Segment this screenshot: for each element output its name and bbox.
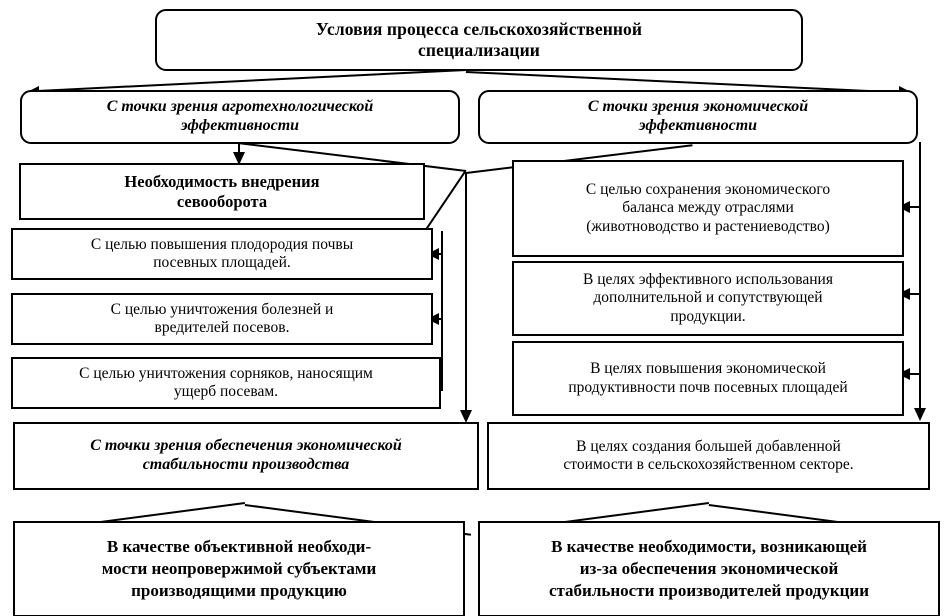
branch-box-agrotech-text: С точки зрения агротехнологической эффек…: [22, 98, 458, 136]
outcome-right-text: В качестве необходимости, возникающей из…: [480, 536, 938, 601]
diagram-canvas: Условия процесса сельскохозяйственной сп…: [0, 0, 950, 616]
right-item-text-1: В целях эффективного использования допол…: [514, 271, 902, 326]
outcome-left-text: В качестве объективной необходи- мости н…: [15, 536, 463, 601]
title-box: Условия процесса сельскохозяйственной сп…: [155, 9, 803, 71]
left-item-text-2: С целью уничтожения сорняков, наносящим …: [13, 365, 439, 402]
left-item-box-0: С целью повышения плодородия почвы посев…: [11, 228, 433, 280]
title-box-text: Условия процесса сельскохозяйственной сп…: [157, 19, 801, 60]
outcome-box-left: В качестве объективной необходи- мости н…: [13, 521, 465, 616]
left-heading-box: Необходимость внедрения севооборота: [19, 163, 425, 220]
left-item-text-0: С целью повышения плодородия почвы посев…: [13, 236, 431, 273]
left-subbranch-text: С точки зрения обеспечения экономической…: [15, 437, 477, 475]
left-item-text-1: С целью уничтожения болезней и вредителе…: [13, 301, 431, 338]
right-conclusion-box: В целях создания большей добавленной сто…: [487, 422, 930, 490]
right-item-text-2: В целях повышения экономической продукти…: [514, 360, 902, 397]
right-conclusion-text: В целях создания большей добавленной сто…: [489, 438, 928, 475]
right-item-box-1: В целях эффективного использования допол…: [512, 261, 904, 336]
left-feeder-line: [441, 231, 443, 391]
left-item-box-1: С целью уничтожения болезней и вредителе…: [11, 293, 433, 345]
connector-join-to-left-feeder: [424, 171, 466, 232]
left-heading-text: Необходимость внедрения севооборота: [21, 172, 423, 211]
right-item-box-0: С целью сохранения экономического баланс…: [512, 160, 904, 257]
branch-box-agrotech: С точки зрения агротехнологической эффек…: [20, 90, 460, 144]
branch-box-economic: С точки зрения экономической эффективнос…: [478, 90, 918, 144]
outcome-box-right: В качестве необходимости, возникающей из…: [478, 521, 940, 616]
arrowhead-right-conclusion: [914, 408, 926, 421]
connector-join-to-subbranch: [465, 172, 467, 415]
right-item-text-0: С целью сохранения экономического баланс…: [514, 181, 902, 236]
branch-box-economic-text: С точки зрения экономической эффективнос…: [480, 98, 916, 136]
right-item-box-2: В целях повышения экономической продукти…: [512, 341, 904, 416]
connector-title-to-left-branch: [32, 69, 466, 92]
left-item-box-2: С целью уничтожения сорняков, наносящим …: [11, 357, 441, 409]
left-subbranch-box: С точки зрения обеспечения экономической…: [13, 422, 479, 490]
